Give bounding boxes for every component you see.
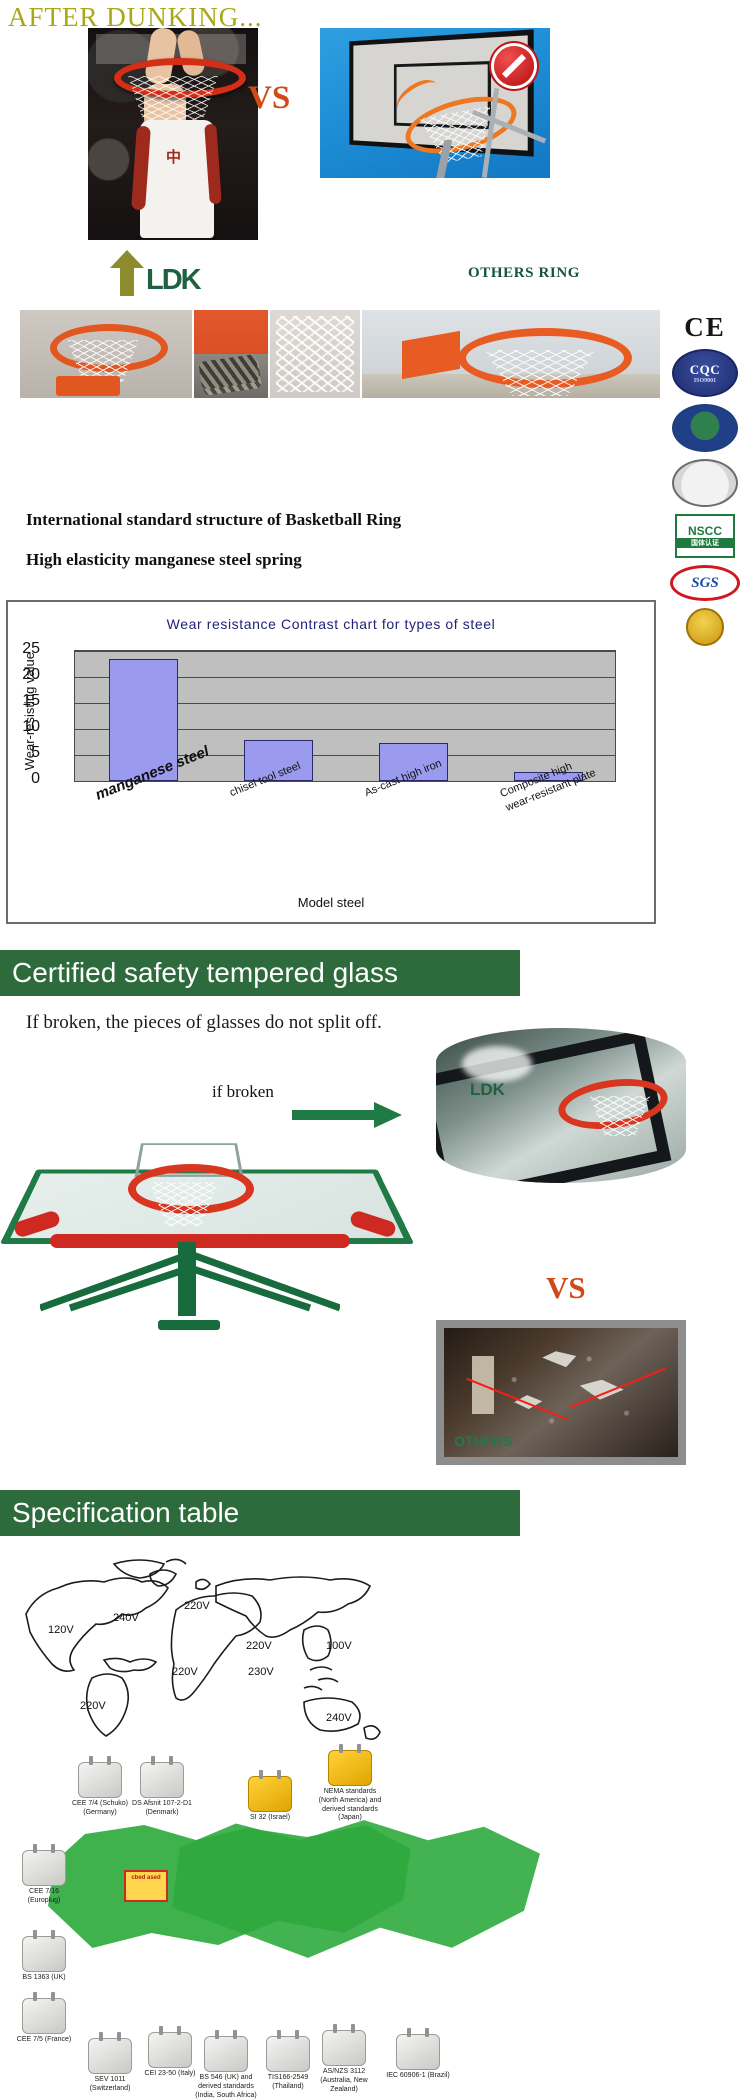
- world-voltage-map: 120V240V220V220V100V230V220V220V240V: [18, 1552, 418, 1742]
- others-overlay-label: OTHERS: [454, 1433, 512, 1449]
- photo-broken-glass-detail: LDK: [436, 1028, 686, 1183]
- nscc-sublabel: 国体认证: [677, 538, 733, 548]
- right-arrow-icon: [292, 1102, 402, 1128]
- chart-y-tick: 5: [10, 744, 40, 762]
- plug-icon: [266, 2036, 310, 2072]
- chart-y-tick: 20: [10, 666, 40, 684]
- photo-others-ring-broken: [320, 28, 550, 178]
- china-environmental-label-icon: [672, 404, 738, 452]
- plug-standards-diagram: cbed ased CEE 7/16 (Europlug)CEE 7/4 (Sc…: [6, 1740, 706, 2070]
- voltage-label: 230V: [248, 1666, 274, 1678]
- voltage-label: 120V: [48, 1624, 74, 1636]
- voltage-label: 240V: [326, 1712, 352, 1724]
- photo-installed-ring: [362, 310, 660, 398]
- plug-type-cee-7-4: CEE 7/4 (Schuko) (Germany): [68, 1762, 132, 1818]
- plug-type-cee-7-5: CEE 7/5 (France): [12, 1998, 76, 2045]
- nscc-icon: NSCC 国体认证: [675, 514, 735, 558]
- glass-subtitle: If broken, the pieces of glasses do not …: [26, 1012, 382, 1034]
- plug-label: AS/NZS 3112 (Australia, New Zealand): [312, 2068, 376, 2094]
- cqc-label: CQC: [690, 362, 720, 378]
- plug-icon: [22, 1936, 66, 1972]
- plug-type-nema-japan: NEMA standards (North America) and deriv…: [318, 1750, 382, 1823]
- voltage-label: 100V: [326, 1640, 352, 1652]
- others-ring-label: OTHERS RING: [468, 265, 580, 282]
- certification-badges: CE CQC ISO9001 NSCC 国体认证 SGS: [668, 312, 742, 653]
- plug-type-sev-1011: SEV 1011 (Switzerland): [78, 2038, 142, 2094]
- chart-y-tick: 0: [10, 770, 40, 788]
- chart-x-axis-label: Model steel: [8, 895, 654, 910]
- photo-manganese-spring: [194, 354, 268, 398]
- nscc-label: NSCC: [688, 524, 722, 538]
- plug-type-ds-afsnit: DS Afsnit 107-2-D1 (Denmark): [130, 1762, 194, 1818]
- plug-type-as-nzs-3112: AS/NZS 3112 (Australia, New Zealand): [312, 2030, 376, 2094]
- plug-label: NEMA standards (North America) and deriv…: [318, 1788, 382, 1823]
- cqc-icon: CQC ISO9001: [672, 349, 738, 397]
- plug-label: IEC 60906-1 (Brazil): [386, 2072, 450, 2081]
- section-header-specification-table-label: Specification table: [0, 1497, 239, 1529]
- plug-label: DS Afsnit 107-2-D1 (Denmark): [130, 1800, 194, 1818]
- plug-type-cee-7-16: CEE 7/16 (Europlug): [12, 1850, 76, 1906]
- illustration-glass-backboard-hoop: [10, 1130, 400, 1330]
- vs-label-top: VS: [248, 80, 290, 117]
- plug-icon: [22, 1850, 66, 1886]
- plug-label: SI 32 (Israel): [238, 1814, 302, 1823]
- brand-logo: LDK: [146, 264, 200, 297]
- plug-icon: [204, 2036, 248, 2072]
- plug-type-si-32: SI 32 (Israel): [238, 1776, 302, 1823]
- chart-y-tick: 10: [10, 718, 40, 736]
- product-photo-strip: [20, 310, 660, 398]
- plug-icon: [248, 1776, 292, 1812]
- plug-label: CEE 7/4 (Schuko) (Germany): [68, 1800, 132, 1818]
- map-callout-box: cbed ased: [124, 1870, 168, 1902]
- plug-type-tis-166-2549: TIS166-2549 (Thailand): [256, 2036, 320, 2092]
- plug-icon: [78, 1762, 122, 1798]
- plug-type-iec-60906-1: IEC 60906-1 (Brazil): [386, 2034, 450, 2081]
- voltage-label: 240V: [113, 1612, 139, 1624]
- ce-icon: CE: [674, 312, 736, 342]
- photo-ldk-dunk: 中: [88, 28, 258, 240]
- plug-label: CEI 23-50 (Italy): [138, 2070, 202, 2079]
- vs-label-bottom: VS: [546, 1270, 586, 1306]
- prohibited-icon: [494, 46, 534, 86]
- caption-standard-structure: International standard structure of Bask…: [26, 510, 401, 530]
- world-map-outline: [18, 1552, 418, 1742]
- plug-label: BS 546 (UK) and derived standards (India…: [194, 2074, 258, 2100]
- plug-label: CEE 7/16 (Europlug): [12, 1888, 76, 1906]
- map-region-eurasia: [156, 1810, 556, 1978]
- plug-icon: [140, 1762, 184, 1798]
- plug-icon: [148, 2032, 192, 2068]
- chart-gridline: [75, 651, 615, 652]
- if-broken-label: if broken: [212, 1082, 274, 1102]
- plug-type-bs-1363: BS 1363 (UK): [12, 1936, 76, 1983]
- brand-logo-on-glass: LDK: [470, 1080, 505, 1100]
- photo-shattered-glass-others: OTHERS: [436, 1320, 686, 1465]
- caption-spring: High elasticity manganese steel spring: [26, 550, 302, 570]
- plug-icon: [22, 1998, 66, 2034]
- section-header-specification-table: Specification table: [0, 1490, 520, 1536]
- plug-type-cei-23-50: CEI 23-50 (Italy): [138, 2032, 202, 2079]
- plug-label: BS 1363 (UK): [12, 1974, 76, 1983]
- voltage-label: 220V: [184, 1600, 210, 1612]
- chart-title: Wear resistance Contrast chart for types…: [8, 616, 654, 632]
- plug-label: TIS166-2549 (Thailand): [256, 2074, 320, 2092]
- chart-y-tick: 15: [10, 692, 40, 710]
- chart-y-tick: 25: [10, 640, 40, 658]
- plug-icon: [88, 2038, 132, 2074]
- section-header-tempered-glass: Certified safety tempered glass: [0, 950, 520, 996]
- voltage-label: 220V: [172, 1666, 198, 1678]
- voltage-label: 220V: [246, 1640, 272, 1652]
- plug-icon: [328, 1750, 372, 1786]
- china-quality-emblem-icon: [672, 459, 738, 507]
- photo-ring-with-net: [20, 310, 192, 398]
- plug-type-bs-546: BS 546 (UK) and derived standards (India…: [194, 2036, 258, 2100]
- voltage-label: 220V: [80, 1700, 106, 1712]
- gold-medal-icon: [686, 608, 724, 646]
- plug-icon: [322, 2030, 366, 2066]
- photo-net-mesh: [270, 310, 360, 398]
- plug-icon: [396, 2034, 440, 2070]
- plug-label: CEE 7/5 (France): [12, 2036, 76, 2045]
- wear-resistance-chart: Wear resistance Contrast chart for types…: [6, 600, 656, 924]
- up-arrow-icon: [110, 250, 144, 296]
- cqc-sublabel: ISO9001: [694, 378, 716, 384]
- sgs-icon: SGS: [670, 565, 740, 601]
- section-header-tempered-glass-label: Certified safety tempered glass: [0, 957, 398, 989]
